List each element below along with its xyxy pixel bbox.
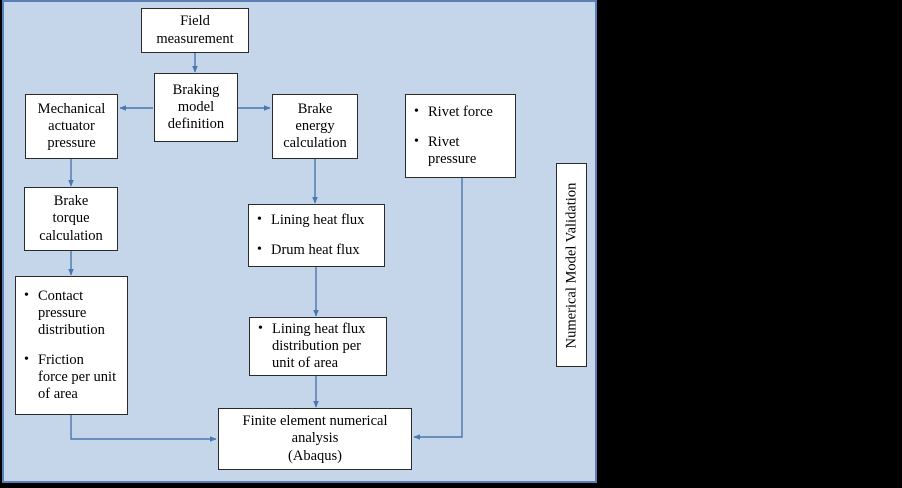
node-line: Mechanical [38,101,106,118]
node-line: actuator [48,118,95,135]
bullet-line: unit of area [272,355,380,372]
bullet-dot-icon: • [257,242,271,259]
node-line: analysis [292,430,339,447]
bullet-dot-icon: • [414,134,428,151]
bullet-dot-icon: • [258,321,272,338]
node-line: Brake [298,101,333,118]
node-brake-torque-calculation[interactable]: Brake torque calculation [24,187,118,251]
bullet-line: pressure [428,151,509,168]
bullet-line: Rivet force [428,104,509,121]
node-heat-flux-distribution[interactable]: • Lining heat flux distribution per unit… [249,317,387,376]
bullet-item: • Drum heat flux [257,242,378,259]
bullet-line: distribution per [272,338,380,355]
node-braking-model-definition[interactable]: Braking model definition [154,73,238,142]
bullet-line: Lining heat flux [271,212,378,229]
node-field-measurement[interactable]: Field measurement [141,8,249,53]
bullet-line: force per unit [38,369,121,386]
node-line: model [178,99,214,116]
node-brake-energy-calculation[interactable]: Brake energy calculation [272,94,358,159]
bullet-dot-icon: • [24,352,38,369]
bullet-line: Rivet [428,134,509,151]
bullet-item: • Rivet force [414,104,509,121]
node-contact-pressure-outputs[interactable]: • Contact pressure distribution • Fricti… [15,276,128,415]
bullet-line: distribution [38,322,121,339]
diagram-canvas: Field measurement Braking model definiti… [0,0,902,488]
node-line: energy [295,118,334,135]
node-heat-flux-outputs[interactable]: • Lining heat flux • Drum heat flux [248,204,385,267]
node-line: Brake [54,193,89,210]
vertical-title-text: Numerical Model Validation [563,182,580,348]
node-line: (Abaqus) [288,448,342,465]
node-line: Field [180,13,210,30]
bullet-line: Friction [38,352,121,369]
node-line: Finite element numerical [243,413,388,430]
node-line: torque [52,210,89,227]
bullet-dot-icon: • [257,212,271,229]
bullet-item: • Lining heat flux [257,212,378,229]
node-finite-element-analysis[interactable]: Finite element numerical analysis (Abaqu… [218,408,412,470]
bullet-line: Drum heat flux [271,242,378,259]
bullet-item: • Lining heat flux distribution per unit… [258,321,380,372]
node-mechanical-actuator-pressure[interactable]: Mechanical actuator pressure [25,94,118,159]
node-rivet-outputs[interactable]: • Rivet force • Rivet pressure [405,94,516,178]
bullet-item: • Friction force per unit of area [24,352,121,403]
node-line: pressure [47,135,95,152]
node-line: measurement [156,31,233,48]
node-line: calculation [283,135,347,152]
bullet-item: • Contact pressure distribution [24,288,121,339]
bullet-line: Contact [38,288,121,305]
vertical-title-numerical-model-validation: Numerical Model Validation [556,163,587,367]
node-line: calculation [39,228,103,245]
bullet-dot-icon: • [24,288,38,305]
bullet-line: of area [38,386,121,403]
bullet-line: pressure [38,305,121,322]
bullet-line: Lining heat flux [272,321,380,338]
bullet-dot-icon: • [414,104,428,121]
node-line: Braking [173,82,220,99]
bullet-item: • Rivet pressure [414,134,509,168]
node-line: definition [168,116,224,133]
